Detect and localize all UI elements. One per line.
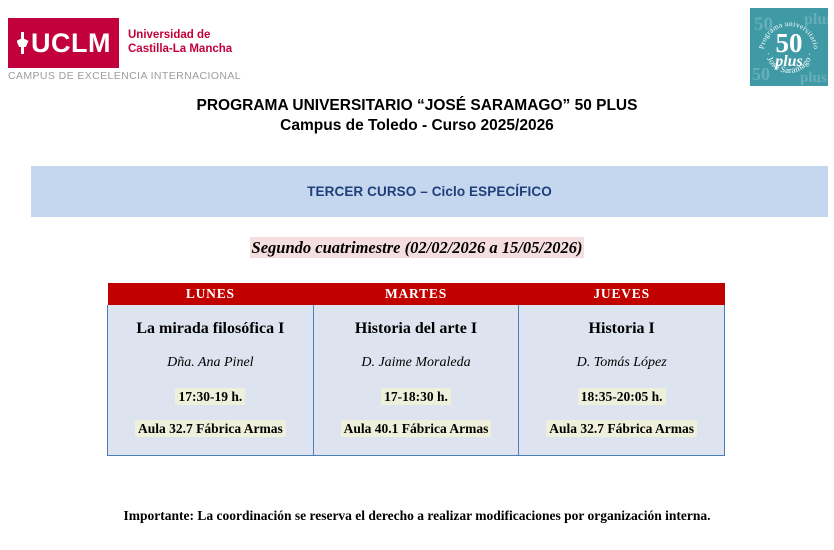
schedule-table: LUNES MARTES JUEVES La mirada filosófica… [107, 283, 725, 456]
course-subject: La mirada filosófica I [114, 319, 307, 338]
schedule-cell-jueves: Historia I D. Tomás López 18:35-20:05 h.… [519, 305, 725, 456]
course-teacher: D. Jaime Moraleda [320, 355, 513, 372]
course-subject: Historia I [525, 319, 718, 338]
schedule-day-header-lunes: LUNES [108, 283, 314, 305]
course-room-value: Aula 32.7 Fábrica Armas [546, 420, 697, 437]
uclm-arrow-emblem-icon [16, 32, 29, 54]
course-room-value: Aula 32.7 Fábrica Armas [135, 420, 286, 437]
course-room-value: Aula 40.1 Fábrica Armas [341, 420, 492, 437]
uclm-logo: UCLM Universidad de Castilla-La Mancha C… [8, 18, 248, 82]
course-teacher: D. Tomás López [525, 355, 718, 372]
page-title: PROGRAMA UNIVERSITARIO “JOSÉ SARAMAGO” 5… [0, 96, 834, 136]
course-time-value: 17-18:30 h. [381, 388, 451, 405]
course-time-value: 18:35-20:05 h. [578, 388, 666, 405]
footer-note: Importante: La coordinación se reserva e… [0, 508, 834, 524]
semester-heading: Segundo cuatrimestre (02/02/2026 a 15/05… [0, 238, 834, 258]
semester-label: Segundo cuatrimestre (02/02/2026 a 15/05… [250, 237, 585, 258]
program-50plus-logo: 50 plus 50 plus Programa universitario ·… [750, 8, 828, 86]
course-time: 17-18:30 h. [320, 389, 513, 405]
schedule-day-header-martes: MARTES [313, 283, 519, 305]
page-header: UCLM Universidad de Castilla-La Mancha C… [0, 0, 834, 95]
uclm-tagline: CAMPUS DE EXCELENCIA INTERNACIONAL [8, 70, 241, 82]
schedule-cell-martes: Historia del arte I D. Jaime Moraleda 17… [313, 305, 519, 456]
course-time: 18:35-20:05 h. [525, 389, 718, 405]
schedule-header-row: LUNES MARTES JUEVES [108, 283, 725, 305]
uclm-wordmark: UCLM [31, 30, 111, 57]
uclm-university-name: Universidad de Castilla-La Mancha [128, 28, 232, 57]
schedule-day-header-jueves: JUEVES [519, 283, 725, 305]
schedule-body-row: La mirada filosófica I Dña. Ana Pinel 17… [108, 305, 725, 456]
course-time-value: 17:30-19 h. [175, 388, 245, 405]
schedule-cell-lunes: La mirada filosófica I Dña. Ana Pinel 17… [108, 305, 314, 456]
plus-logo-word: plus [773, 53, 803, 70]
course-time: 17:30-19 h. [114, 389, 307, 405]
course-room: Aula 40.1 Fábrica Armas [320, 421, 513, 437]
svg-text:plus: plus [800, 70, 827, 86]
course-room: Aula 32.7 Fábrica Armas [114, 421, 307, 437]
course-subject: Historia del arte I [320, 319, 513, 338]
page-title-line-2: Campus de Toledo - Curso 2025/2026 [0, 116, 834, 136]
page-title-line-1: PROGRAMA UNIVERSITARIO “JOSÉ SARAMAGO” 5… [0, 96, 834, 116]
course-banner: TERCER CURSO – Ciclo ESPECÍFICO [31, 166, 828, 217]
svg-text:50: 50 [752, 64, 770, 84]
course-teacher: Dña. Ana Pinel [114, 355, 307, 372]
course-banner-label: TERCER CURSO – Ciclo ESPECÍFICO [307, 184, 552, 199]
uclm-logo-mark: UCLM [8, 18, 119, 68]
course-room: Aula 32.7 Fábrica Armas [525, 421, 718, 437]
